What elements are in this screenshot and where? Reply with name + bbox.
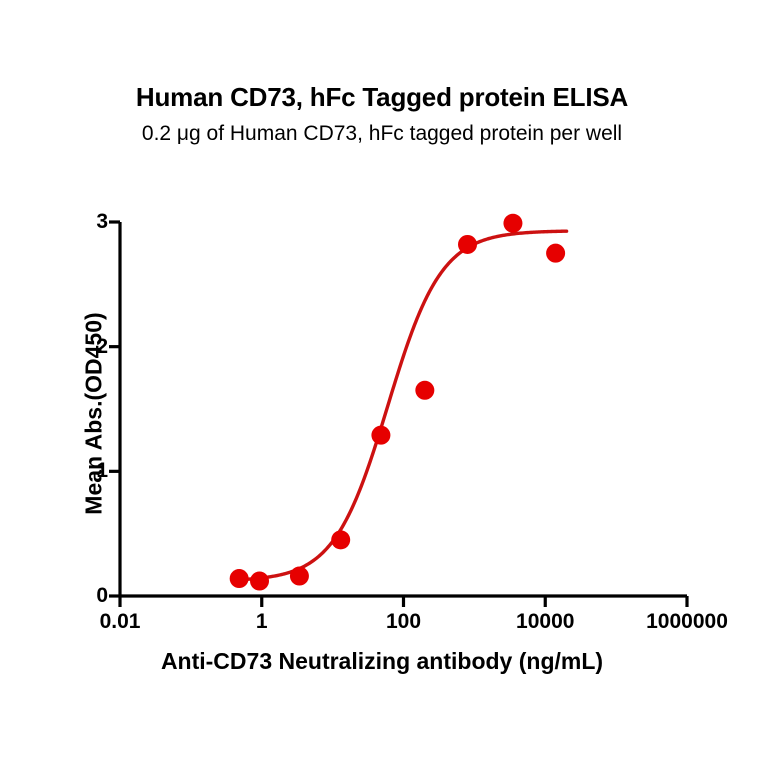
x-tick-label: 100 bbox=[386, 610, 421, 634]
data-point-marker bbox=[503, 214, 522, 233]
x-axis-label: Anti-CD73 Neutralizing antibody (ng/mL) bbox=[0, 648, 764, 675]
fit-curve bbox=[237, 231, 566, 580]
chart-figure: Human CD73, hFc Tagged protein ELISA 0.2… bbox=[0, 0, 764, 764]
x-tick-label: 0.01 bbox=[100, 610, 141, 634]
data-point-marker bbox=[546, 244, 565, 263]
data-point-marker bbox=[371, 426, 390, 445]
plot-area: 0123 0.011100100001000000 Mean Abs.(OD45… bbox=[0, 0, 764, 764]
data-point-marker bbox=[415, 381, 434, 400]
x-tick-label: 10000 bbox=[516, 610, 574, 634]
axes bbox=[109, 222, 687, 607]
data-point-marker bbox=[458, 235, 477, 254]
x-tick-label: 1000000 bbox=[646, 610, 728, 634]
data-point-marker bbox=[331, 530, 350, 549]
y-axis-label: Mean Abs.(OD450) bbox=[81, 224, 108, 604]
data-point-marker bbox=[230, 569, 249, 588]
data-point-marker bbox=[290, 567, 309, 586]
data-points bbox=[230, 214, 565, 591]
data-point-marker bbox=[250, 572, 269, 591]
x-tick-label: 1 bbox=[256, 610, 268, 634]
